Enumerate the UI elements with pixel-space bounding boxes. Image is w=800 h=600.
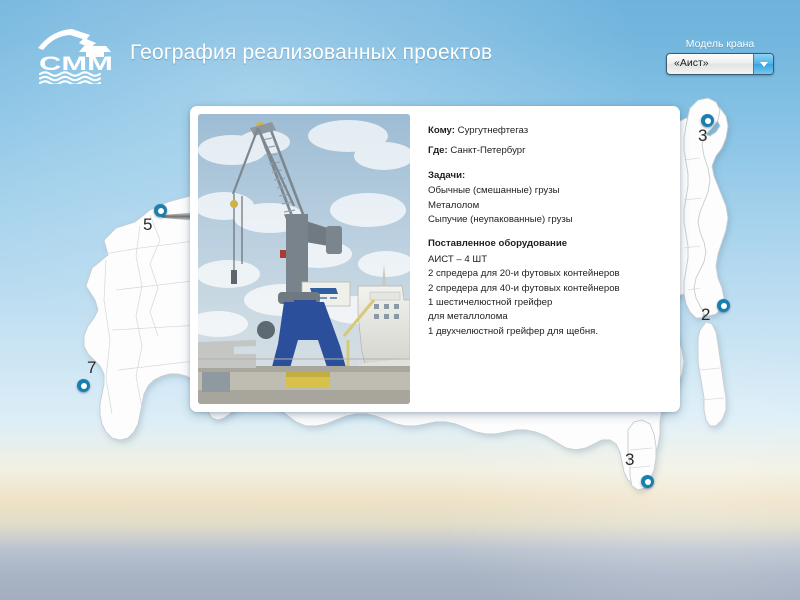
svg-text:CMM: CMM bbox=[39, 54, 113, 75]
map-pin-icon[interactable] bbox=[154, 204, 167, 217]
tasks-heading: Задачи: bbox=[428, 169, 668, 183]
page-header: CMM География реализованных проектов Мод… bbox=[0, 0, 800, 100]
application-stage: CMM География реализованных проектов Мод… bbox=[0, 0, 800, 600]
task-item: Сыпучие (неупакованные) грузы bbox=[428, 213, 668, 227]
harbour-crane-logo[interactable]: CMM bbox=[28, 26, 124, 84]
map-pin-icon[interactable] bbox=[717, 299, 730, 312]
equipment-section: Поставленное оборудование АИСТ – 4 ШТ 2 … bbox=[428, 237, 668, 339]
task-item: Обычные (смешанные) грузы bbox=[428, 184, 668, 198]
crane-photo-image bbox=[198, 114, 410, 404]
field-recipient-value: Сургутнефтегаз bbox=[458, 125, 529, 136]
field-recipient: Кому: Сургутнефтегаз bbox=[428, 124, 668, 138]
crane-model-label: Модель крана bbox=[666, 38, 774, 50]
marker-count-label: 2 bbox=[701, 305, 710, 325]
crane-model-dropdown[interactable]: «Аист» bbox=[666, 53, 774, 75]
marker-count-label: 7 bbox=[87, 358, 96, 378]
project-details: Кому: Сургутнефтегаз Где: Санкт-Петербур… bbox=[428, 124, 668, 339]
marker-count-label: 3 bbox=[625, 450, 634, 470]
equipment-item: для металлолома bbox=[428, 310, 668, 324]
task-item: Металолом bbox=[428, 199, 668, 213]
equipment-item: 1 двухчелюстной грейфер для щебня. bbox=[428, 325, 668, 339]
crane-model-value: «Аист» bbox=[674, 57, 709, 69]
crane-model-selector: Модель крана «Аист» bbox=[666, 38, 774, 75]
equipment-heading: Поставленное оборудование bbox=[428, 237, 668, 251]
chevron-down-icon[interactable] bbox=[753, 54, 773, 74]
map-pin-icon[interactable] bbox=[641, 475, 654, 488]
marker-count-label: 3 bbox=[698, 126, 707, 146]
page-title: География реализованных проектов bbox=[130, 41, 492, 65]
field-recipient-label: Кому: bbox=[428, 125, 455, 136]
field-location: Где: Санкт-Петербург bbox=[428, 144, 668, 158]
crane-photo bbox=[198, 114, 410, 404]
map-pin-icon[interactable] bbox=[77, 379, 90, 392]
equipment-item: АИСТ – 4 ШТ bbox=[428, 253, 668, 267]
project-info-panel[interactable]: Кому: Сургутнефтегаз Где: Санкт-Петербур… bbox=[190, 106, 680, 412]
logo-icon: CMM bbox=[28, 26, 124, 84]
equipment-item: 2 спредера для 40-и футовых контейнеров bbox=[428, 282, 668, 296]
field-location-value: Санкт-Петербург bbox=[450, 145, 525, 156]
equipment-item: 1 шестичелюстной грейфер bbox=[428, 296, 668, 310]
equipment-item: 2 спредера для 20-и футовых контейнеров bbox=[428, 267, 668, 281]
field-location-label: Где: bbox=[428, 145, 448, 156]
marker-count-label: 5 bbox=[143, 215, 152, 235]
tasks-section: Задачи: Обычные (смешанные) грузы Метало… bbox=[428, 169, 668, 228]
